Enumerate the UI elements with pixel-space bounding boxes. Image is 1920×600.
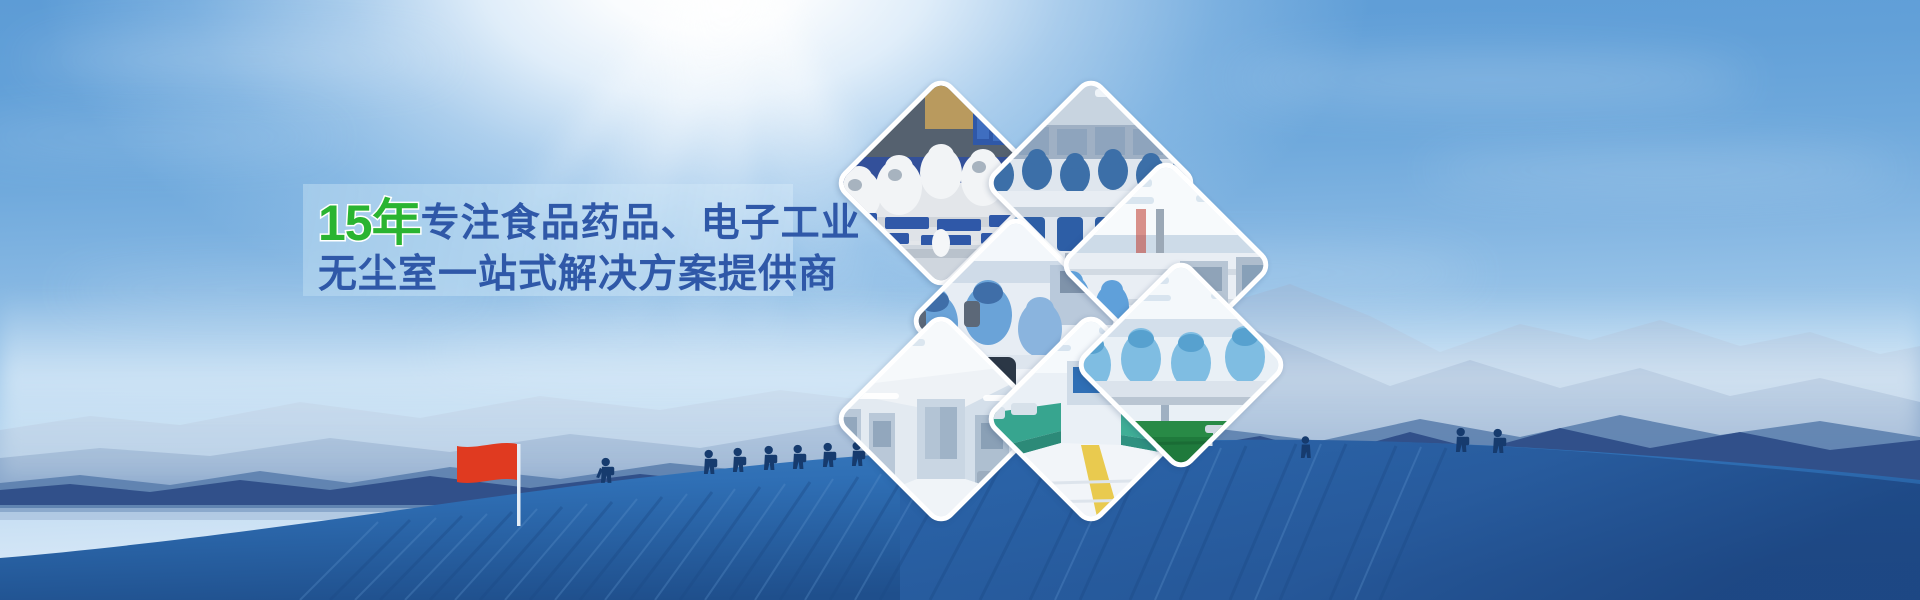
slogan-line-2: 无尘室一站式解决方案提供商 — [318, 254, 788, 296]
hero-banner: 15年专注食品药品、电子工业 无尘室一站式解决方案提供商 — [0, 0, 1920, 600]
cloud-wisp — [20, 40, 450, 80]
slogan-line-1: 15年专注食品药品、电子工业 — [318, 196, 788, 250]
cloud-wisp — [1420, 150, 1900, 190]
years-highlight: 15年 — [318, 195, 421, 251]
slogan-line-1-rest: 专注食品药品、电子工业 — [421, 201, 861, 246]
slogan-text-block: 15年专注食品药品、电子工业 无尘室一站式解决方案提供商 — [318, 196, 788, 296]
photo-collage — [842, 92, 1282, 472]
cloud-wisp — [1230, 55, 1750, 103]
